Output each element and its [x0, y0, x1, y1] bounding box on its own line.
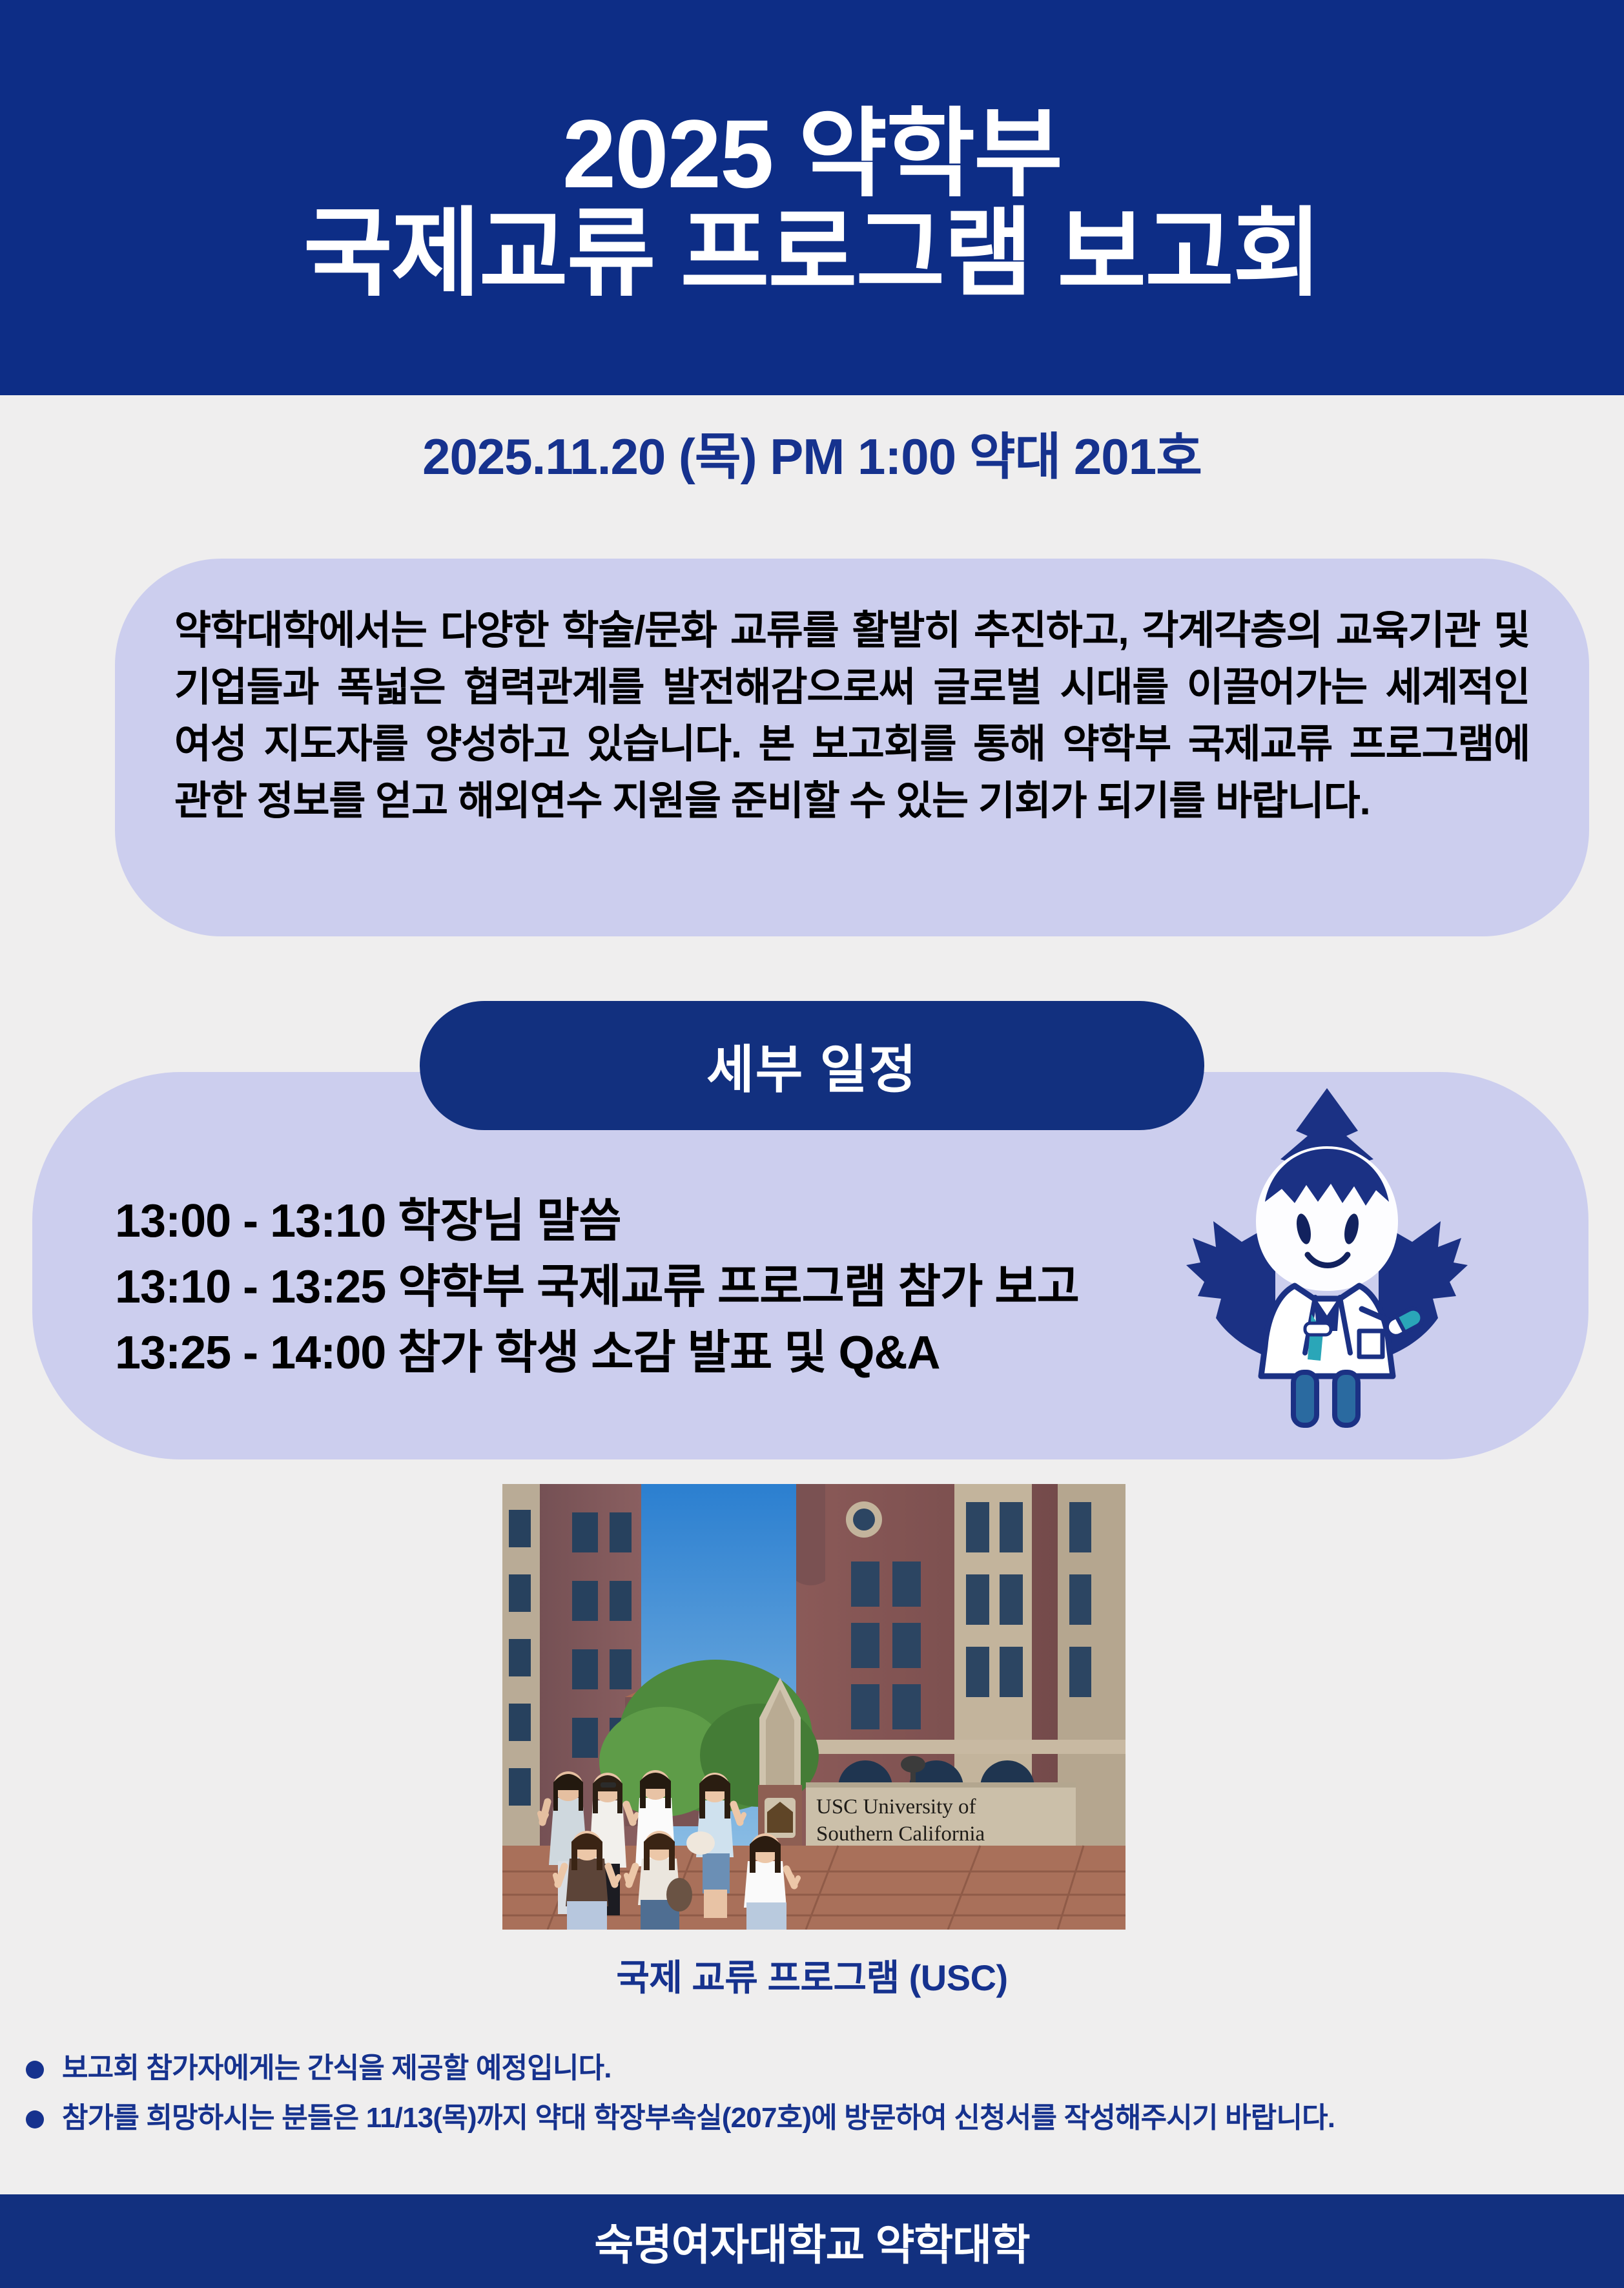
photo-caption: 국제 교류 프로그램 (USC) — [0, 1949, 1624, 2001]
schedule-list: 13:00 - 13:10 학장님 말씀 13:10 - 13:25 약학부 국… — [115, 1188, 1079, 1386]
bullet-icon — [26, 2110, 44, 2128]
intro-box: 약학대학에서는 다양한 학술/문화 교류를 활발히 추진하고, 각계각층의 교육… — [115, 559, 1589, 936]
note-text: 보고회 참가자에게는 간식을 제공할 예정입니다. — [62, 2050, 612, 2086]
poster-title-line-2: 국제교류 프로그램 보고회 — [303, 203, 1321, 304]
poster-header-band: 2025 약학부 국제교류 프로그램 보고회 — [0, 0, 1624, 395]
schedule-row: 13:10 - 13:25 약학부 국제교류 프로그램 참가 보고 — [115, 1254, 1079, 1320]
usc-sign-line-1: USC University of — [816, 1795, 976, 1819]
notes-list: 보고회 참가자에게는 간식을 제공할 예정입니다. 참가를 희망하시는 분들은 … — [26, 2050, 1608, 2150]
usc-group-photo: USC University of Southern California — [502, 1484, 1125, 1930]
event-datetime-location: 2025.11.20 (목) PM 1:00 약대 201호 — [0, 417, 1624, 489]
note-item: 보고회 참가자에게는 간식을 제공할 예정입니다. — [26, 2050, 1608, 2086]
poster-footer-band: 숙명여자대학교 약학대학 — [0, 2194, 1624, 2288]
pharmacy-mascot-icon — [1185, 1069, 1469, 1450]
schedule-badge-label: 세부 일정 — [706, 1028, 918, 1103]
intro-paragraph: 약학대학에서는 다양한 학술/문화 교류를 활발히 추진하고, 각계각층의 교육… — [174, 603, 1530, 830]
usc-sign-line-2: Southern California — [816, 1822, 985, 1846]
schedule-row: 13:25 - 14:00 참가 학생 소감 발표 및 Q&A — [115, 1320, 1079, 1386]
schedule-badge: 세부 일정 — [420, 1001, 1204, 1130]
bullet-icon — [26, 2061, 44, 2079]
note-item: 참가를 희망하시는 분들은 11/13(목)까지 약대 학장부속실(207호)에… — [26, 2100, 1608, 2136]
note-text: 참가를 희망하시는 분들은 11/13(목)까지 약대 학장부속실(207호)에… — [62, 2100, 1335, 2136]
schedule-row: 13:00 - 13:10 학장님 말씀 — [115, 1188, 1079, 1254]
organization-name: 숙명여자대학교 약학대학 — [594, 2211, 1029, 2273]
poster-title-line-1: 2025 약학부 — [562, 104, 1062, 204]
